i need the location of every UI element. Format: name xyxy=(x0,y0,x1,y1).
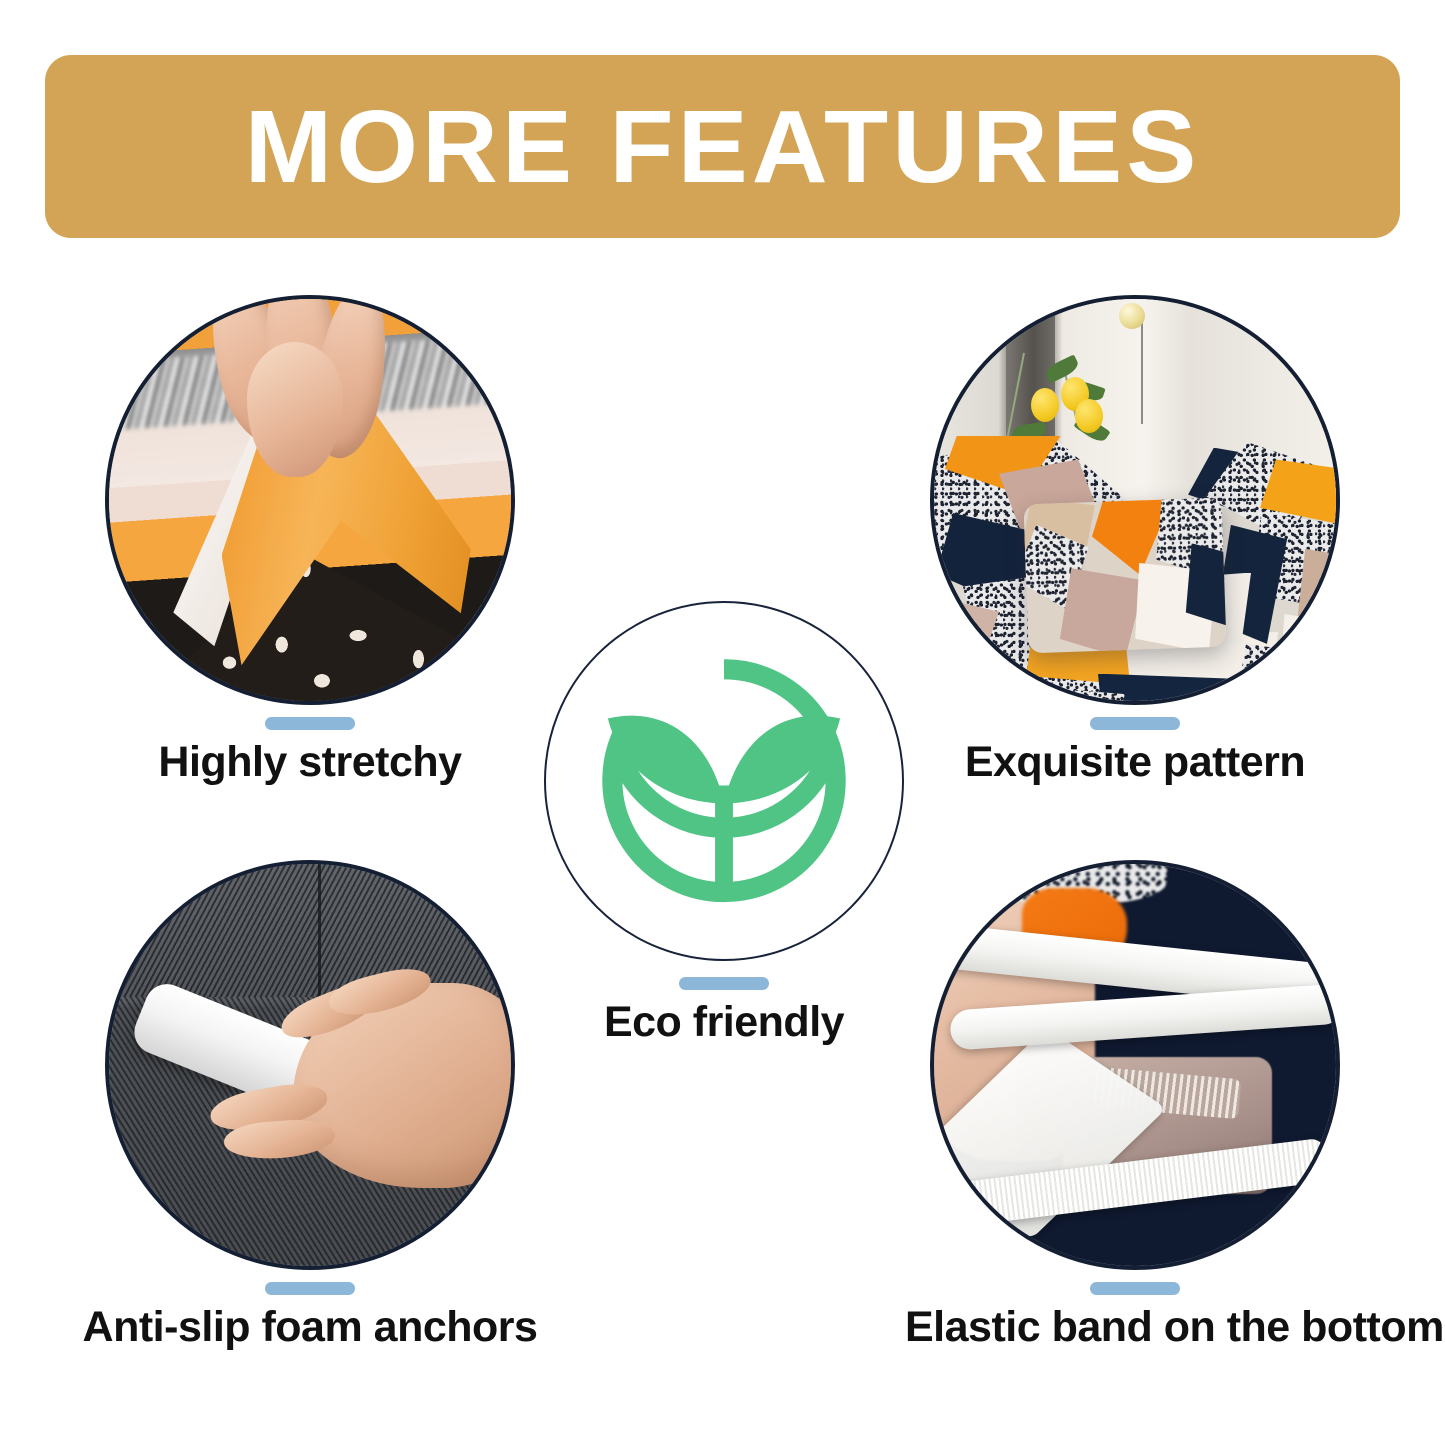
feature-label: Exquisite pattern xyxy=(905,740,1365,785)
feature-exquisite-pattern: Exquisite pattern xyxy=(905,295,1365,785)
feature-eco-friendly: Eco friendly xyxy=(544,601,904,1045)
eco-leaf-sprout-icon xyxy=(590,647,858,915)
accent-cushion xyxy=(1023,498,1226,654)
feature-elastic-band-on-the-bottom: Elastic band on the bottom xyxy=(905,860,1365,1350)
hand-pinching xyxy=(214,295,399,468)
lemon xyxy=(1075,399,1103,433)
cushion-patch-mauve xyxy=(1057,566,1147,653)
hand-pressing xyxy=(189,969,515,1218)
caption-exquisite-pattern: Exquisite pattern xyxy=(905,717,1365,785)
feature-anti-slip-foam-anchors: Anti-slip foam anchors xyxy=(80,860,540,1350)
hanging-ornament-icon xyxy=(1119,303,1145,329)
thumb xyxy=(247,342,343,477)
feature-label: Elastic band on the bottom xyxy=(905,1305,1365,1350)
sofa-cover-patchwork xyxy=(930,436,1340,705)
eco-badge-circle xyxy=(544,601,904,961)
hanging-cord xyxy=(1141,311,1143,424)
photo-elastic-band-icon xyxy=(930,860,1340,1270)
header-banner: MORE FEATURES xyxy=(45,55,1400,238)
photo-foam-anchor-icon xyxy=(105,860,515,1270)
caption-elastic-band-on-the-bottom: Elastic band on the bottom xyxy=(905,1282,1365,1350)
accent-bar-icon xyxy=(679,977,769,990)
feature-label: Eco friendly xyxy=(544,1000,904,1045)
accent-bar-icon xyxy=(1090,717,1180,730)
accent-bar-icon xyxy=(1090,1282,1180,1295)
page-title: MORE FEATURES xyxy=(245,95,1201,198)
accent-bar-icon xyxy=(265,717,355,730)
caption-highly-stretchy: Highly stretchy xyxy=(80,717,540,785)
lemon xyxy=(1031,388,1059,422)
photo-geometric-sofa-icon xyxy=(930,295,1340,705)
photo-stretch-fabric-icon xyxy=(105,295,515,705)
accent-bar-icon xyxy=(265,1282,355,1295)
caption-anti-slip-foam-anchors: Anti-slip foam anchors xyxy=(80,1282,540,1350)
caption-eco-friendly: Eco friendly xyxy=(544,977,904,1045)
feature-label: Anti-slip foam anchors xyxy=(80,1305,540,1350)
feature-highly-stretchy: Highly stretchy xyxy=(80,295,540,785)
feature-label: Highly stretchy xyxy=(80,740,540,785)
